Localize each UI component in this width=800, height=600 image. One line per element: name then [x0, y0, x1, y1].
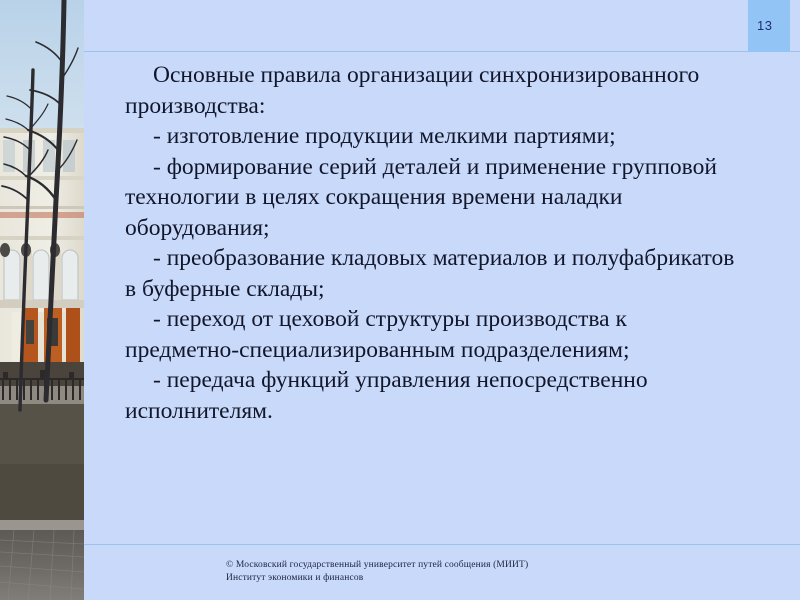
- paragraph-bullet-3: - преобразование кладовых материалов и п…: [125, 243, 735, 304]
- paragraph-bullet-2: - формирование серий деталей и применени…: [125, 152, 735, 244]
- slide-canvas: 13 Основные правила организации синхрони…: [0, 0, 800, 600]
- page-number: 13: [757, 18, 772, 33]
- university-building-photo: [0, 0, 84, 600]
- photo-artwork: [0, 0, 84, 600]
- header-divider: [84, 51, 748, 52]
- paragraph-intro: Основные правила организации синхронизир…: [125, 60, 735, 121]
- page-number-badge: 13: [748, 0, 790, 52]
- slide-footer: © Московский государственный университет…: [226, 559, 746, 585]
- footer-line-institute: Институт экономики и финансов: [226, 572, 746, 585]
- slide-body-text: Основные правила организации синхронизир…: [125, 60, 735, 426]
- header-divider-right: [790, 51, 800, 52]
- footer-divider: [84, 544, 800, 545]
- paragraph-bullet-4: - переход от цеховой структуры производс…: [125, 304, 735, 365]
- paragraph-bullet-1: - изготовление продукции мелкими партиям…: [125, 121, 735, 152]
- footer-line-copyright: © Московский государственный университет…: [226, 559, 746, 572]
- paragraph-bullet-5: - передача функций управления непосредст…: [125, 365, 735, 426]
